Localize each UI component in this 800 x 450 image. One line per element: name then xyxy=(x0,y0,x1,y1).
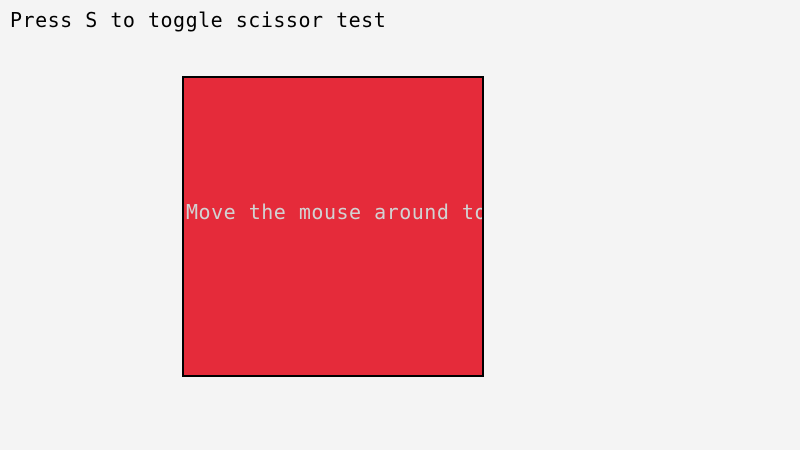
app-canvas[interactable]: Press S to toggle scissor test Move the … xyxy=(0,0,800,450)
hint-text: Press S to toggle scissor test xyxy=(10,8,386,32)
clipped-message-text: Move the mouse around to reveal the text xyxy=(186,200,482,224)
scissor-clip-area: Move the mouse around to reveal the text xyxy=(184,78,482,375)
scissor-region[interactable]: Move the mouse around to reveal the text xyxy=(182,76,484,377)
